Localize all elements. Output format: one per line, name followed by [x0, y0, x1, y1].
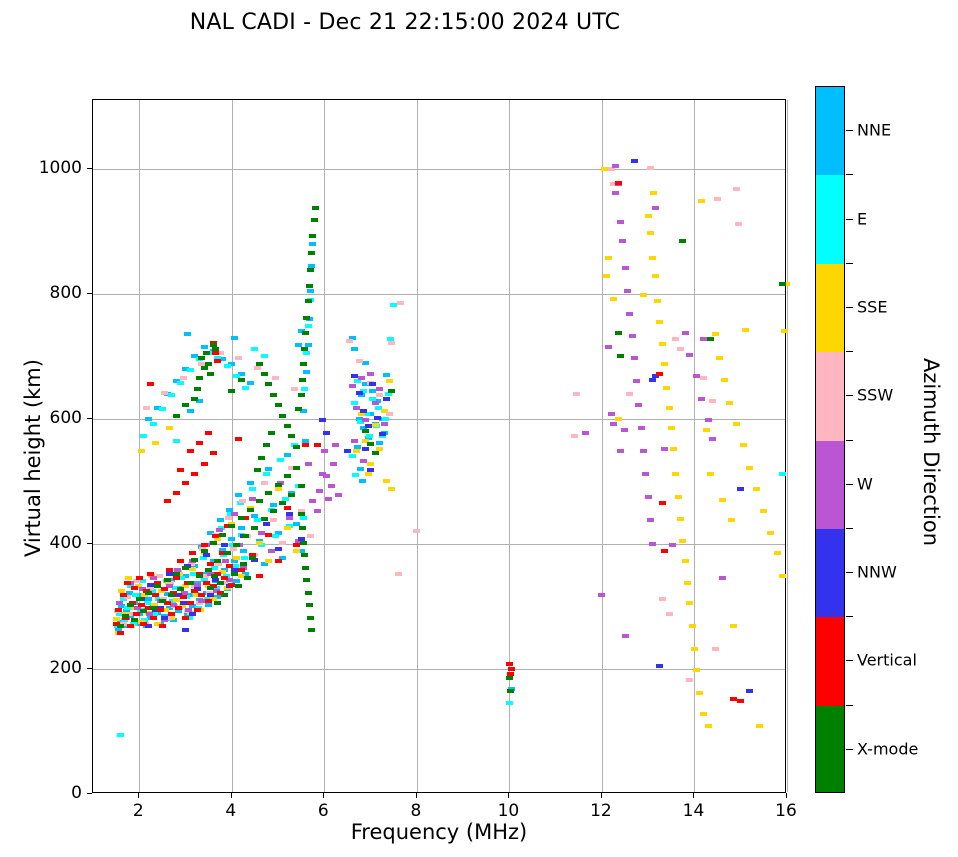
scatter-point [177, 587, 184, 591]
scatter-point [164, 578, 171, 582]
scatter-point [143, 406, 150, 410]
scatter-point [622, 266, 629, 270]
colorbar-tick [846, 307, 853, 308]
scatter-point [571, 434, 578, 438]
scatter-point [779, 574, 786, 578]
scatter-point [721, 378, 728, 382]
scatter-point [225, 516, 232, 520]
scatter-point [131, 586, 138, 590]
scatter-point [682, 559, 689, 563]
scatter-point [251, 526, 258, 530]
scatter-point [175, 609, 182, 613]
scatter-point [308, 251, 315, 255]
scatter-point [256, 541, 263, 545]
scatter-point [301, 553, 308, 557]
scatter-point [205, 431, 212, 435]
scatter-point [279, 541, 286, 545]
scatter-point [332, 443, 339, 447]
scatter-point [191, 558, 198, 562]
scatter-point [351, 401, 358, 405]
scatter-point [301, 387, 308, 391]
scatter-point [256, 574, 263, 578]
y-tick [87, 418, 92, 419]
scatter-point [598, 593, 605, 597]
colorbar-segment-ssw[interactable] [816, 352, 844, 440]
y-tick [87, 668, 92, 669]
scatter-point [647, 231, 654, 235]
scatter-point [328, 484, 335, 488]
scatter-point [661, 362, 668, 366]
scatter-point [668, 426, 675, 430]
scatter-point [413, 529, 420, 533]
scatter-point [173, 439, 180, 443]
scatter-point [221, 543, 228, 547]
scatter-point [307, 289, 314, 293]
scatter-point [659, 342, 666, 346]
scatter-point [228, 583, 235, 587]
scatter-point [374, 416, 381, 420]
colorbar-label-e: E [857, 209, 867, 228]
y-tick [87, 168, 92, 169]
scatter-point [670, 447, 677, 451]
scatter-point [284, 474, 291, 478]
scatter-point [136, 597, 143, 601]
scatter-point [733, 187, 740, 191]
scatter-point [383, 373, 390, 377]
scatter-point [147, 572, 154, 576]
scatter-point [233, 543, 240, 547]
scatter-point [194, 608, 201, 612]
scatter-point [131, 618, 138, 622]
scatter-point [219, 533, 226, 537]
x-tick-label: 6 [318, 801, 329, 821]
scatter-point [265, 382, 272, 386]
scatter-point [312, 206, 319, 210]
scatter-point [573, 392, 580, 396]
scatter-point [626, 312, 633, 316]
scatter-point [633, 379, 640, 383]
scatter-point [682, 331, 689, 335]
colorbar[interactable] [815, 86, 845, 793]
scatter-point [133, 612, 140, 616]
scatter-point [122, 614, 129, 618]
scatter-point [631, 159, 638, 163]
scatter-point [284, 526, 291, 530]
scatter-point [210, 451, 217, 455]
scatter-point [686, 353, 693, 357]
scatter-point [386, 379, 393, 383]
colorbar-boundary-tick [846, 616, 853, 617]
scatter-point [656, 320, 663, 324]
scatter-point [265, 559, 272, 563]
scatter-point [323, 431, 330, 435]
scatter-point [709, 437, 716, 441]
scatter-point [150, 616, 157, 620]
scatter-point [323, 474, 330, 478]
x-tick-label: 2 [133, 801, 144, 821]
x-tick-label: 10 [498, 801, 520, 821]
scatter-point [164, 499, 171, 503]
scatter-point [217, 581, 224, 585]
scatter-point [307, 534, 314, 538]
scatter-point [265, 491, 272, 495]
x-tick [231, 793, 232, 798]
scatter-point [261, 481, 268, 485]
scatter-point [325, 497, 332, 501]
scatter-point [136, 576, 143, 580]
scatter-point [661, 549, 668, 553]
scatter-point [330, 462, 337, 466]
scatter-point [666, 406, 673, 410]
scatter-point [254, 468, 261, 472]
scatter-point [284, 453, 291, 457]
scatter-point [201, 462, 208, 466]
scatter-point [686, 601, 693, 605]
scatter-point [638, 426, 645, 430]
scatter-point [159, 599, 166, 603]
scatter-point [649, 256, 656, 260]
scatter-point [346, 339, 353, 343]
scatter-point [288, 434, 295, 438]
scatter-point [140, 622, 147, 626]
scatter-point [286, 516, 293, 520]
scatter-point [198, 593, 205, 597]
scatter-point [372, 423, 379, 427]
colorbar-segment-nne[interactable] [816, 87, 844, 175]
scatter-point [314, 443, 321, 447]
scatter-point [395, 572, 402, 576]
scatter-point [619, 239, 626, 243]
scatter-point [686, 678, 693, 682]
scatter-point [268, 549, 275, 553]
colorbar-segment-vertical[interactable] [816, 617, 844, 705]
scatter-point [196, 376, 203, 380]
scatter-point [612, 164, 619, 168]
scatter-point [353, 449, 360, 453]
scatter-point [746, 689, 753, 693]
gridline-vertical [787, 100, 788, 792]
scatter-point [621, 428, 628, 432]
scatter-point [275, 487, 282, 491]
colorbar-tick [846, 130, 853, 131]
scatter-point [182, 566, 189, 570]
scatter-point [240, 549, 247, 553]
scatter-point [311, 218, 318, 222]
scatter-point [719, 498, 726, 502]
scatter-point [645, 495, 652, 499]
scatter-point [182, 403, 189, 407]
colorbar-label-sse: SSE [857, 297, 887, 316]
colorbar-tick [846, 219, 853, 220]
scatter-point [605, 256, 612, 260]
scatter-point [740, 443, 747, 447]
scatter-point [240, 562, 247, 566]
scatter-point [154, 584, 161, 588]
scatter-point [669, 543, 676, 547]
scatter-point [746, 466, 753, 470]
scatter-point [258, 456, 265, 460]
scatter-point [205, 599, 212, 603]
scatter-point [254, 366, 261, 370]
scatter-point [645, 214, 652, 218]
scatter-point [649, 542, 656, 546]
scatter-point [196, 574, 203, 578]
scatter-point [631, 356, 638, 360]
scatter-point [700, 712, 707, 716]
scatter-point [728, 518, 735, 522]
scatter-point [244, 576, 251, 580]
scatter-point [150, 422, 157, 426]
scatter-point [367, 468, 374, 472]
scatter-point [228, 524, 235, 528]
scatter-point [753, 487, 760, 491]
scatter-point [303, 578, 310, 582]
scatter-point [308, 628, 315, 632]
scatter-point [656, 664, 663, 668]
scatter-data-layer [93, 100, 785, 792]
scatter-point [652, 274, 659, 278]
colorbar-boundary-tick [846, 705, 853, 706]
colorbar-tick [846, 660, 853, 661]
scatter-point [360, 459, 367, 463]
scatter-point [698, 199, 705, 203]
scatter-point [166, 568, 173, 572]
scatter-point [381, 422, 388, 426]
scatter-point [173, 414, 180, 418]
scatter-point [367, 372, 374, 376]
scatter-point [247, 381, 254, 385]
scatter-point [314, 509, 321, 513]
scatter-point [168, 612, 175, 616]
scatter-point [360, 409, 367, 413]
scatter-point [379, 432, 386, 436]
scatter-point [508, 667, 515, 671]
scatter-point [300, 362, 307, 366]
scatter-point [182, 481, 189, 485]
scatter-point [321, 449, 328, 453]
scatter-point [168, 593, 175, 597]
scatter-point [617, 354, 624, 358]
scatter-point [159, 407, 166, 411]
scatter-point [353, 406, 360, 410]
scatter-point [198, 599, 205, 603]
scatter-point [251, 347, 258, 351]
scatter-point [608, 412, 615, 416]
scatter-point [161, 616, 168, 620]
scatter-point [376, 393, 383, 397]
scatter-point [275, 559, 282, 563]
scatter-point [270, 518, 277, 522]
scatter-point [173, 598, 180, 602]
scatter-point [127, 603, 134, 607]
scatter-point [666, 612, 673, 616]
colorbar-label-x-mode: X-mode [857, 739, 918, 758]
scatter-point [663, 386, 670, 390]
scatter-point [372, 451, 379, 455]
scatter-point [382, 417, 389, 421]
scatter-point [214, 359, 221, 363]
scatter-point [238, 516, 245, 520]
scatter-point [693, 668, 700, 672]
scatter-point [316, 489, 323, 493]
colorbar-boundary-tick [846, 174, 853, 175]
scatter-point [397, 301, 404, 305]
scatter-point [640, 293, 647, 297]
scatter-point [760, 509, 767, 513]
scatter-point [781, 329, 788, 333]
scatter-point [298, 512, 305, 516]
scatter-point [191, 589, 198, 593]
scatter-point [201, 345, 208, 349]
scatter-point [351, 347, 358, 351]
scatter-point [610, 297, 617, 301]
scatter-point [705, 724, 712, 728]
scatter-point [187, 449, 194, 453]
scatter-point [705, 418, 712, 422]
y-tick [87, 793, 92, 794]
scatter-point [635, 403, 642, 407]
scatter-point [124, 581, 131, 585]
scatter-point [138, 603, 145, 607]
colorbar-segment-sse[interactable] [816, 264, 844, 352]
scatter-point [703, 428, 710, 432]
scatter-point [147, 583, 154, 587]
colorbar-segment-nnw[interactable] [816, 529, 844, 617]
scatter-point [238, 378, 245, 382]
scatter-point [187, 409, 194, 413]
scatter-point [207, 593, 214, 597]
scatter-point [147, 382, 154, 386]
scatter-point [624, 289, 631, 293]
scatter-point [626, 392, 633, 396]
scatter-point [659, 501, 666, 505]
scatter-point [707, 337, 714, 341]
scatter-point [507, 689, 514, 693]
scatter-point [295, 407, 302, 411]
scatter-point [735, 222, 742, 226]
scatter-point [231, 572, 238, 576]
y-tick [87, 293, 92, 294]
scatter-point [212, 347, 219, 351]
scatter-point [261, 372, 268, 376]
plot-area[interactable] [92, 99, 786, 793]
x-tick [601, 793, 602, 798]
scatter-point [212, 351, 219, 355]
scatter-point [238, 526, 245, 530]
scatter-point [152, 593, 159, 597]
scatter-point [224, 551, 231, 555]
scatter-point [582, 431, 589, 435]
x-tick [323, 793, 324, 798]
scatter-point [629, 334, 636, 338]
scatter-point [239, 499, 246, 503]
colorbar-segment-x-mode[interactable] [816, 706, 844, 793]
scatter-point [242, 534, 249, 538]
scatter-point [309, 234, 316, 238]
scatter-point [352, 473, 359, 477]
scatter-point [305, 591, 312, 595]
scatter-point [235, 584, 242, 588]
scatter-point [652, 206, 659, 210]
scatter-point [693, 374, 700, 378]
scatter-point [302, 443, 309, 447]
scatter-point [210, 541, 217, 545]
scatter-point [161, 391, 168, 395]
scatter-point [284, 506, 291, 510]
scatter-point [207, 586, 214, 590]
scatter-point [166, 426, 173, 430]
scatter-point [617, 449, 624, 453]
scatter-point [719, 576, 726, 580]
scatter-point [207, 372, 214, 376]
scatter-point [654, 299, 661, 303]
scatter-point [201, 549, 208, 553]
scatter-point [211, 574, 218, 578]
scatter-point [288, 493, 295, 497]
scatter-point [309, 499, 316, 503]
scatter-point [383, 397, 390, 401]
scatter-point [335, 493, 342, 497]
scatter-point [351, 439, 358, 443]
scatter-point [696, 691, 703, 695]
scatter-point [117, 624, 124, 628]
scatter-point [221, 593, 228, 597]
y-tick [87, 543, 92, 544]
scatter-point [684, 581, 691, 585]
scatter-point [230, 547, 237, 551]
colorbar-tick [846, 395, 853, 396]
scatter-point [716, 356, 723, 360]
colorbar-segment-w[interactable] [816, 441, 844, 529]
scatter-point [302, 566, 309, 570]
scatter-point [145, 417, 152, 421]
scatter-point [362, 447, 369, 451]
scatter-point [358, 376, 365, 380]
scatter-point [284, 424, 291, 428]
scatter-point [216, 528, 223, 532]
scatter-point [774, 551, 781, 555]
scatter-point [679, 239, 686, 243]
scatter-point [303, 316, 310, 320]
scatter-point [300, 516, 307, 520]
scatter-point [173, 572, 180, 576]
scatter-point [265, 467, 272, 471]
colorbar-segment-e[interactable] [816, 175, 844, 263]
scatter-point [205, 568, 212, 572]
scatter-point [679, 539, 686, 543]
scatter-point [201, 366, 208, 370]
scatter-point [367, 462, 374, 466]
scatter-point [383, 479, 390, 483]
x-tick [786, 793, 787, 798]
scatter-point [622, 634, 629, 638]
scatter-point [730, 624, 737, 628]
scatter-point [263, 522, 270, 526]
scatter-point [601, 167, 608, 171]
scatter-point [365, 424, 372, 428]
scatter-point [390, 303, 397, 307]
scatter-point [238, 574, 245, 578]
scatter-point [672, 472, 679, 476]
scatter-point [291, 387, 298, 391]
colorbar-tick [846, 572, 853, 573]
y-tick-label: 200 [2, 658, 82, 678]
x-tick-label: 4 [225, 801, 236, 821]
scatter-point [117, 733, 124, 737]
scatter-point [617, 220, 624, 224]
scatter-point [256, 499, 263, 503]
scatter-point [615, 181, 622, 185]
